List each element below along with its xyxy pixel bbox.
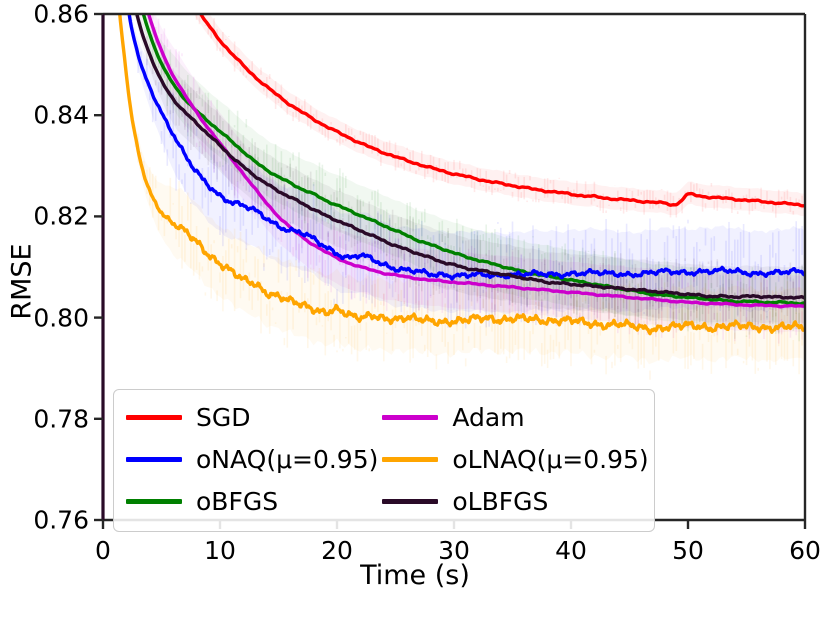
- legend-label: oLNAQ(μ=0.95): [452, 447, 648, 472]
- y-tick-label: 0.78: [0, 404, 89, 433]
- legend-color-swatch: [126, 457, 182, 462]
- legend-label: SGD: [196, 405, 251, 430]
- legend-color-swatch: [382, 415, 438, 420]
- legend-entry[interactable]: oNAQ(μ=0.95): [126, 440, 378, 479]
- legend-label: oBFGS: [196, 489, 278, 514]
- y-axis-label: RMSE: [7, 202, 38, 362]
- legend-label: Adam: [452, 405, 524, 430]
- legend-grid: SGDAdamoNAQ(μ=0.95)oLNAQ(μ=0.95)oBFGSoLB…: [126, 398, 642, 521]
- legend-color-swatch: [382, 457, 438, 462]
- legend-entry[interactable]: Adam: [382, 398, 648, 437]
- y-tick-label: 0.86: [0, 0, 89, 29]
- legend-entry[interactable]: oLBFGS: [382, 482, 648, 521]
- legend-entry[interactable]: oBFGS: [126, 482, 378, 521]
- legend-label: oLBFGS: [452, 489, 548, 514]
- legend-color-swatch: [382, 499, 438, 504]
- legend-label: oNAQ(μ=0.95): [196, 447, 378, 472]
- legend-color-swatch: [126, 415, 182, 420]
- x-axis-label: Time (s): [0, 560, 830, 591]
- legend-entry[interactable]: SGD: [126, 398, 378, 437]
- y-tick-label: 0.84: [0, 101, 89, 130]
- legend-entry[interactable]: oLNAQ(μ=0.95): [382, 440, 648, 479]
- rmse-vs-time-chart: 0.760.780.800.820.840.86 0102030405060 R…: [0, 0, 830, 620]
- legend-color-swatch: [126, 499, 182, 504]
- y-tick-label: 0.76: [0, 506, 89, 535]
- chart-legend[interactable]: SGDAdamoNAQ(μ=0.95)oLNAQ(μ=0.95)oBFGSoLB…: [113, 389, 655, 532]
